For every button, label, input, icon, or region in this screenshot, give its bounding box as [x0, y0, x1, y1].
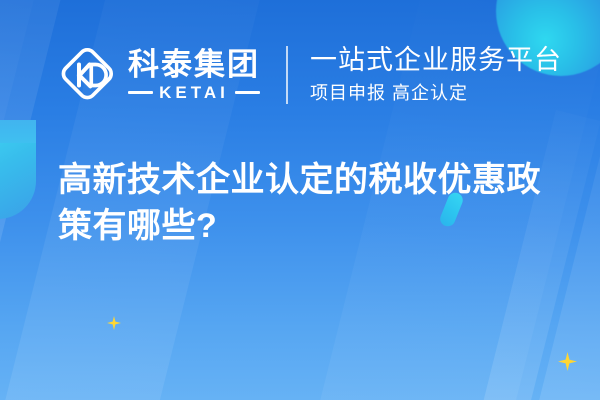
- diagonal-stripe: [454, 110, 600, 400]
- dash-left-icon: [128, 91, 153, 94]
- four-point-star-icon: [107, 316, 121, 330]
- brand-name-en: KETAI: [159, 84, 229, 101]
- brand-name-cn: 科泰集团: [128, 49, 260, 80]
- tagline-sub: 项目申报 高企认定: [310, 82, 562, 105]
- brand-wordmark: 科泰集团 KETAI: [128, 49, 260, 101]
- dash-right-icon: [235, 91, 260, 94]
- page-title: 高新技术企业认定的税收优惠政策有哪些?: [58, 158, 558, 249]
- banner-header: 科泰集团 KETAI 一站式企业服务平台 项目申报 高企认定: [0, 0, 600, 150]
- four-point-star-icon: [558, 352, 577, 371]
- promo-banner: 科泰集团 KETAI 一站式企业服务平台 项目申报 高企认定 高新技术企业认定的…: [0, 0, 600, 400]
- vertical-divider: [286, 46, 288, 104]
- brand-lockup[interactable]: 科泰集团 KETAI: [58, 47, 260, 103]
- cyan-rounded-blob-icon: [0, 143, 36, 219]
- brand-name-en-row: KETAI: [128, 84, 260, 101]
- ketai-monogram-icon: [58, 47, 114, 103]
- tagline-main: 一站式企业服务平台: [310, 45, 562, 76]
- tagline-group: 一站式企业服务平台 项目申报 高企认定: [310, 45, 562, 105]
